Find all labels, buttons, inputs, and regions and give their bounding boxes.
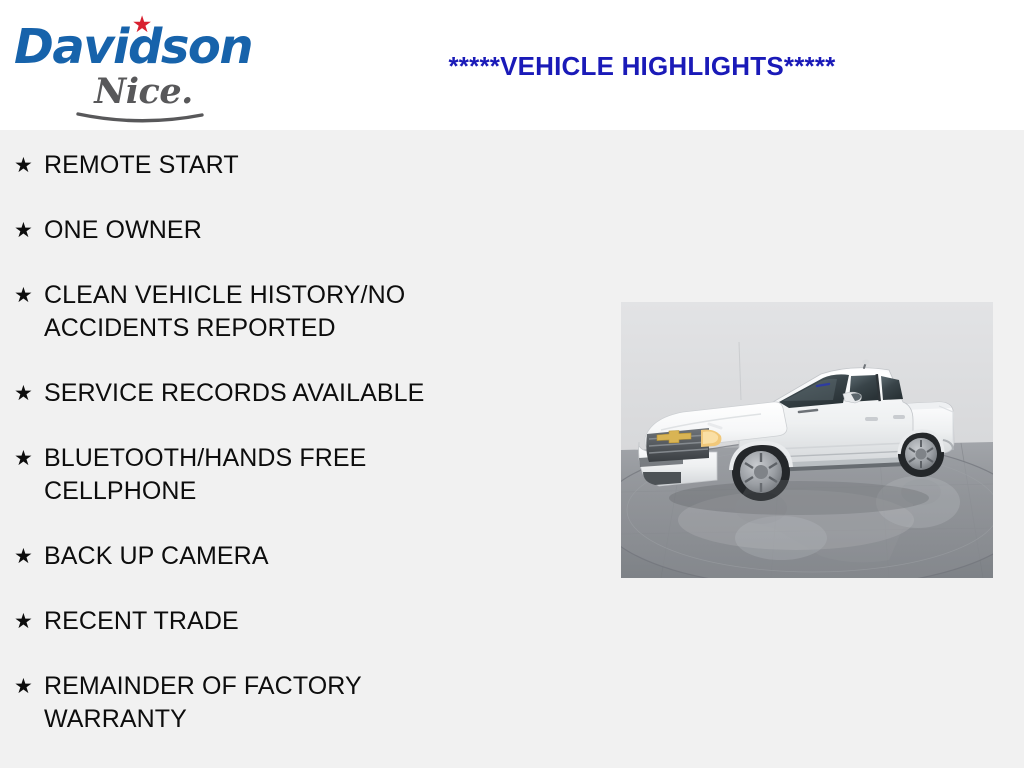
- vehicle-photo[interactable]: [621, 302, 993, 578]
- vehicle-photo-illustration: [621, 302, 993, 578]
- star-bullet-icon: ★: [14, 540, 44, 573]
- list-item-label: REMOTE START: [44, 149, 492, 182]
- star-bullet-icon: ★: [14, 149, 44, 182]
- list-item-label: RECENT TRADE: [44, 605, 492, 638]
- page-title: *****VEHICLE HIGHLIGHTS*****: [270, 51, 1014, 81]
- vehicle-highlights-page: Davidson ★ Nice. *****VEHICLE HIGHLIGHTS…: [0, 0, 1024, 768]
- list-item: ★ ONE OWNER: [0, 214, 600, 247]
- list-item: ★ SERVICE RECORDS AVAILABLE: [0, 377, 600, 410]
- list-item-label: ONE OWNER: [44, 214, 492, 247]
- list-item: ★ RECENT TRADE: [0, 605, 600, 638]
- list-item-label: CLEAN VEHICLE HISTORY/NO ACCIDENTS REPOR…: [44, 279, 492, 345]
- logo-swoosh-underline: [76, 112, 204, 126]
- logo-script-text: Nice.: [76, 72, 211, 112]
- list-item-label: BLUETOOTH/HANDS FREE CELLPHONE: [44, 442, 492, 508]
- star-bullet-icon: ★: [14, 670, 44, 703]
- dealer-logo[interactable]: Davidson ★ Nice.: [14, 8, 264, 123]
- logo-star-icon: ★: [131, 13, 153, 35]
- list-item-label: SERVICE RECORDS AVAILABLE: [44, 377, 492, 410]
- list-item: ★ BLUETOOTH/HANDS FREE CELLPHONE: [0, 442, 600, 508]
- star-bullet-icon: ★: [14, 214, 44, 247]
- star-bullet-icon: ★: [14, 442, 44, 475]
- list-item-label: BACK UP CAMERA: [44, 540, 492, 573]
- star-bullet-icon: ★: [14, 279, 44, 312]
- list-item: ★ BACK UP CAMERA: [0, 540, 600, 573]
- vehicle-highlights-list: ★ REMOTE START ★ ONE OWNER ★ CLEAN VEHIC…: [0, 130, 600, 736]
- list-item: ★ REMOTE START: [0, 149, 600, 182]
- star-bullet-icon: ★: [14, 605, 44, 638]
- star-bullet-icon: ★: [14, 377, 44, 410]
- list-item: ★ REMAINDER OF FACTORY WARRANTY: [0, 670, 600, 736]
- list-item: ★ CLEAN VEHICLE HISTORY/NO ACCIDENTS REP…: [0, 279, 600, 345]
- page-header: Davidson ★ Nice. *****VEHICLE HIGHLIGHTS…: [0, 0, 1024, 130]
- list-item-label: REMAINDER OF FACTORY WARRANTY: [44, 670, 492, 736]
